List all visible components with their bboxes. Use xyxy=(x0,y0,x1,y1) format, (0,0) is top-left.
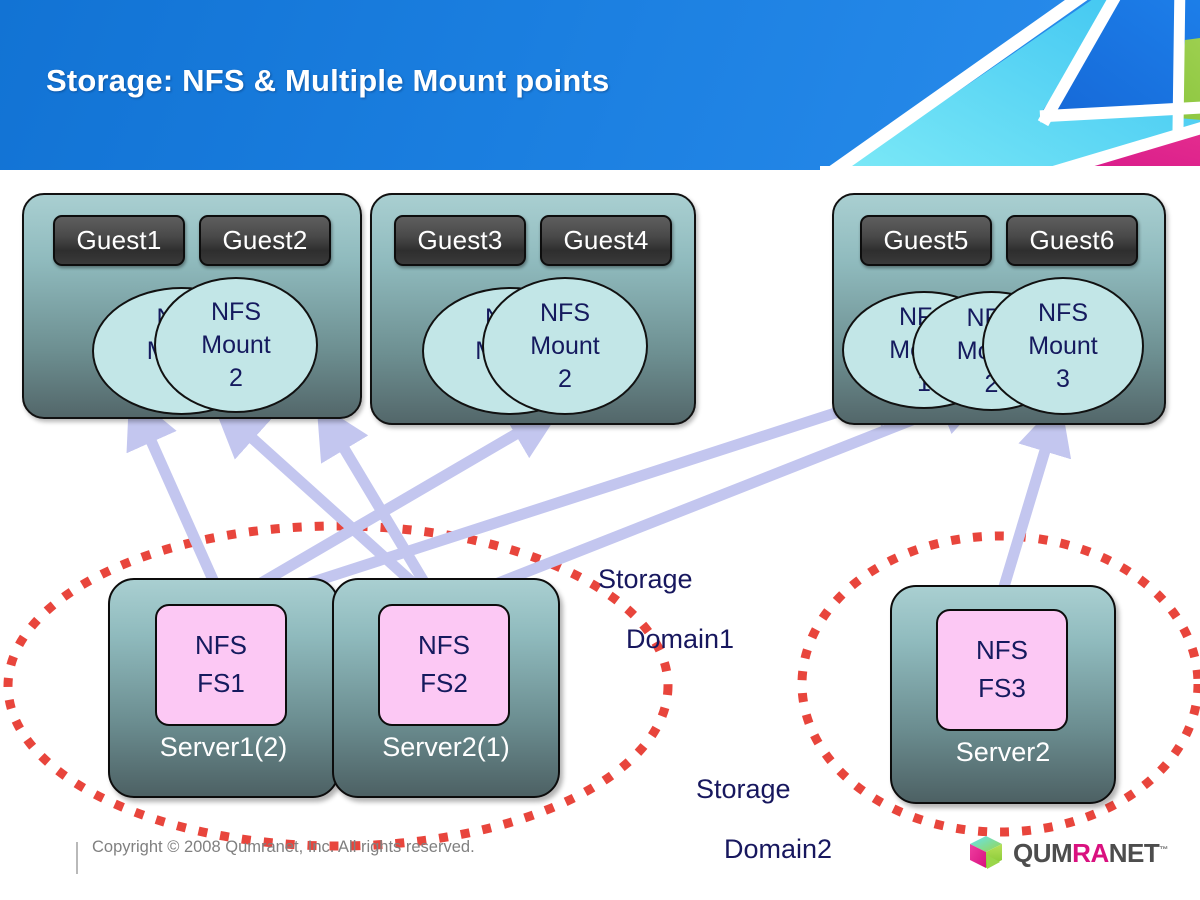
fs1-line2: FS1 xyxy=(197,665,245,703)
footer-divider xyxy=(76,842,78,874)
arrow-fs3-to-hostC-mount3 xyxy=(1000,424,1053,600)
host-group-c[interactable]: Guest5 Guest6 NFS Mount 1 NFS Mount 2 NF… xyxy=(832,193,1166,425)
fs2-line2: FS2 xyxy=(420,665,468,703)
mount-c3-l2: Mount xyxy=(1028,330,1097,363)
fs2-line1: NFS xyxy=(418,627,470,665)
logo-trademark: ™ xyxy=(1159,844,1168,854)
arrow-fs1-to-hostA-mount1 xyxy=(140,416,222,600)
server-2-label: Server2(1) xyxy=(334,732,558,763)
slide-header: Storage: NFS & Multiple Mount points xyxy=(0,0,1200,170)
mount-ellipse-c3[interactable]: NFS Mount 3 xyxy=(982,277,1144,415)
guest-row-b: Guest3 Guest4 xyxy=(372,195,694,266)
storage-domain-1-caption: Storage Domain1 xyxy=(598,560,734,659)
nfs-fs1-box[interactable]: NFS FS1 xyxy=(155,604,287,726)
server-box-3[interactable]: NFS FS3 Server2 xyxy=(890,585,1116,804)
guest-button-guest1[interactable]: Guest1 xyxy=(53,215,185,266)
guest-row-a: Guest1 Guest2 xyxy=(24,195,360,266)
domain-1-line1: Storage xyxy=(598,560,734,598)
guest-button-guest3[interactable]: Guest3 xyxy=(394,215,526,266)
fs3-line2: FS3 xyxy=(978,670,1026,708)
logo-part-ra: RA xyxy=(1072,838,1109,868)
nfs-fs3-box[interactable]: NFS FS3 xyxy=(936,609,1068,731)
storage-domain-2-caption: Storage Domain2 xyxy=(696,770,832,869)
logo-part-net: NET xyxy=(1109,838,1160,868)
guest-row-c: Guest5 Guest6 xyxy=(834,195,1164,266)
guest-button-guest5[interactable]: Guest5 xyxy=(860,215,992,266)
page-title: Storage: NFS & Multiple Mount points xyxy=(46,63,609,99)
server-3-label: Server2 xyxy=(892,737,1114,768)
server-box-2[interactable]: NFS FS2 Server2(1) xyxy=(332,578,560,798)
arrow-fs1-to-hostB-mount2 xyxy=(232,420,540,600)
host-group-a[interactable]: Guest1 Guest2 NFS Mount 1 NFS Mount 2 xyxy=(22,193,362,419)
mount-b2-l3: 2 xyxy=(558,363,572,396)
domain-2-line2: Domain2 xyxy=(724,830,832,868)
domain-1-line2: Domain1 xyxy=(626,620,734,658)
copyright-text: Copyright © 2008 Qumranet, Inc. All righ… xyxy=(92,838,475,857)
mount-a2-l3: 2 xyxy=(229,362,243,395)
server-box-1[interactable]: NFS FS1 Server1(2) xyxy=(108,578,339,798)
qumranet-wordmark: QUMRANET™ xyxy=(1013,838,1168,869)
mount-b2-l2: Mount xyxy=(530,330,599,363)
mount-c3-l1: NFS xyxy=(1038,297,1088,330)
fs1-line1: NFS xyxy=(195,627,247,665)
host-group-b[interactable]: Guest3 Guest4 NFS Mount 1 NFS Mount 2 xyxy=(370,193,696,425)
mount-ellipse-a2[interactable]: NFS Mount 2 xyxy=(154,277,318,413)
guest-button-guest4[interactable]: Guest4 xyxy=(540,215,672,266)
guest-button-guest6[interactable]: Guest6 xyxy=(1006,215,1138,266)
mount-b2-l1: NFS xyxy=(540,297,590,330)
arrow-fs2-to-hostB-mount1 xyxy=(330,425,436,602)
arrow-fs2-to-hostA-mount2 xyxy=(232,420,432,600)
logo-part-qum: QUM xyxy=(1013,838,1072,868)
mount-c3-l3: 3 xyxy=(1056,363,1070,396)
fs3-line1: NFS xyxy=(976,632,1028,670)
qumranet-logo: QUMRANET™ xyxy=(966,832,1168,874)
mount-ellipse-b2[interactable]: NFS Mount 2 xyxy=(482,277,648,415)
mount-a2-l2: Mount xyxy=(201,329,270,362)
server-1-label: Server1(2) xyxy=(110,732,337,763)
qumranet-cube-icon xyxy=(966,833,1006,873)
mount-a2-l1: NFS xyxy=(211,296,261,329)
domain-2-line1: Storage xyxy=(696,770,832,808)
nfs-fs2-box[interactable]: NFS FS2 xyxy=(378,604,510,726)
guest-button-guest2[interactable]: Guest2 xyxy=(199,215,331,266)
slide-canvas: Storage: NFS & Multiple Mount points xyxy=(0,0,1200,900)
